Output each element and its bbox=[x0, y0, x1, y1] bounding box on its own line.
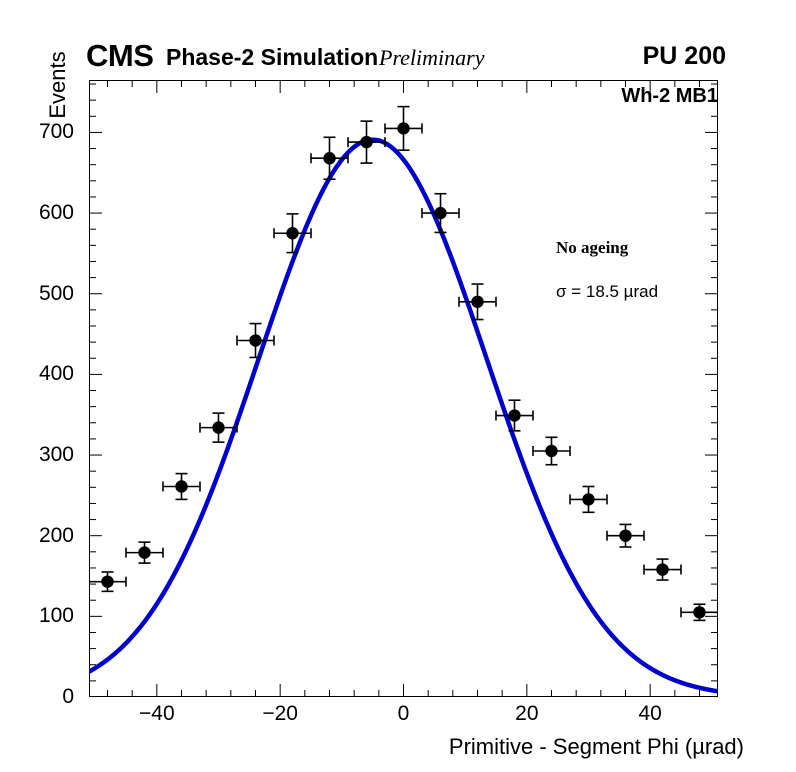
y-tick-label: 0 bbox=[62, 685, 74, 709]
plot-header: CMS Phase-2 Simulation Preliminary PU 20… bbox=[0, 0, 796, 78]
data-point bbox=[570, 486, 607, 512]
y-tick-label: 600 bbox=[39, 201, 74, 225]
plot-area bbox=[89, 80, 718, 697]
preliminary-label: Preliminary bbox=[379, 47, 485, 69]
x-axis-tick-labels: −40−2002040 bbox=[89, 700, 718, 730]
x-tick-label: −40 bbox=[139, 702, 175, 726]
data-point bbox=[533, 437, 570, 464]
data-point bbox=[311, 137, 348, 179]
data-point bbox=[274, 214, 311, 253]
x-tick-label: 40 bbox=[638, 702, 661, 726]
plot-canvas: CMS Phase-2 Simulation Preliminary PU 20… bbox=[0, 0, 796, 772]
y-tick-label: 100 bbox=[39, 604, 74, 628]
phase-label: Phase-2 Simulation bbox=[166, 46, 378, 69]
data-point bbox=[348, 121, 385, 163]
data-point bbox=[607, 524, 644, 547]
data-point bbox=[681, 604, 718, 620]
data-point bbox=[385, 107, 422, 151]
y-axis-tick-labels: 0100200300400500600700 bbox=[0, 80, 82, 697]
x-axis-title: Primitive - Segment Phi (µrad) bbox=[0, 734, 796, 760]
axis-ticks bbox=[89, 80, 718, 697]
gaussian-fit-curve bbox=[89, 140, 718, 692]
data-point bbox=[89, 572, 126, 591]
x-tick-label: −20 bbox=[262, 702, 298, 726]
data-points bbox=[89, 107, 718, 621]
data-point bbox=[163, 474, 200, 500]
x-tick-label: 0 bbox=[398, 702, 410, 726]
data-point bbox=[126, 542, 163, 563]
cms-logo-text: CMS bbox=[86, 40, 153, 71]
ageing-label: No ageing bbox=[556, 238, 628, 258]
y-tick-label: 400 bbox=[39, 362, 74, 386]
x-tick-label: 20 bbox=[515, 702, 538, 726]
pileup-label: PU 200 bbox=[643, 44, 726, 69]
chamber-label: Wh-2 MB1 bbox=[621, 85, 718, 108]
data-point bbox=[644, 559, 681, 580]
y-tick-label: 700 bbox=[39, 120, 74, 144]
resolution-label: σ = 18.5 µrad bbox=[556, 282, 658, 302]
y-tick-label: 300 bbox=[39, 443, 74, 467]
y-tick-label: 200 bbox=[39, 524, 74, 548]
y-tick-label: 500 bbox=[39, 282, 74, 306]
